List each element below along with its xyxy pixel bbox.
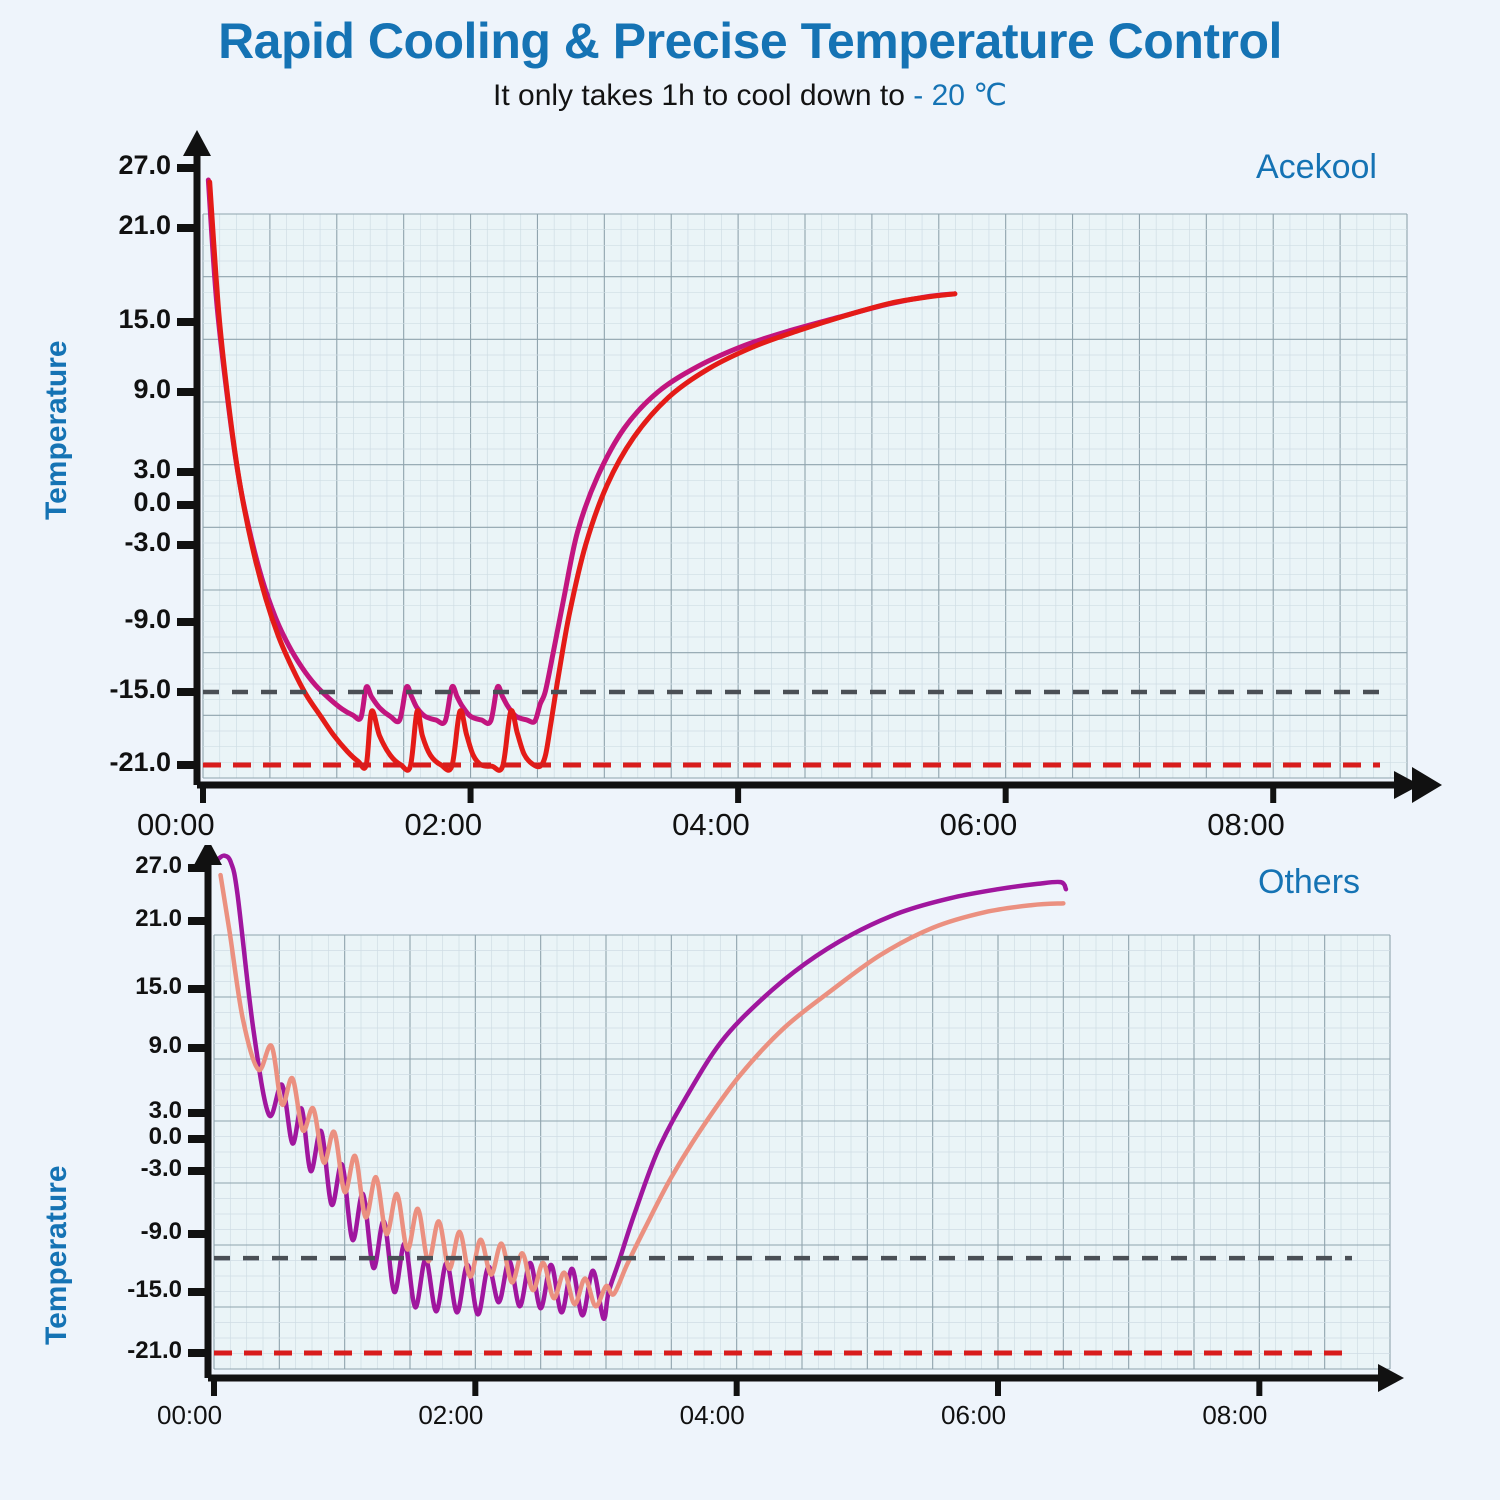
y-axis-arrow-icon: [183, 130, 211, 156]
y-tick-label-8: -15.0: [127, 1276, 182, 1304]
y-tick-label-8: -15.0: [109, 674, 171, 705]
page-header: Rapid Cooling & Precise Temperature Cont…: [0, 0, 1500, 112]
subtitle-prefix: It only takes 1h to cool down to: [493, 79, 913, 112]
y-tick-label-5: 0.0: [133, 487, 171, 518]
x-tick-label-1: 02:00: [418, 1400, 483, 1431]
y-tick-label-3: 9.0: [133, 374, 171, 405]
x-tick-label-3: 06:00: [941, 1400, 1006, 1431]
y-tick-label-6: -3.0: [124, 527, 171, 558]
y-tick-label-0: 27.0: [135, 852, 182, 880]
chart-others-y-axis-title: Temperature: [40, 1165, 74, 1345]
y-tick-label-4: 3.0: [133, 454, 171, 485]
y-tick-label-5: 0.0: [149, 1123, 182, 1151]
chart-acekool-canvas: [0, 130, 1500, 840]
y-axis-arrow-icon: [194, 845, 222, 865]
y-tick-label-7: -9.0: [141, 1218, 182, 1246]
chart-acekool-y-axis-title: Temperature: [40, 340, 74, 520]
y-tick-label-1: 21.0: [135, 905, 182, 933]
x-tick-label-1: 02:00: [405, 807, 483, 843]
x-tick-label-4: 08:00: [1202, 1400, 1267, 1431]
x-tick-label-3: 06:00: [940, 807, 1018, 843]
x-tick-label-2: 04:00: [672, 807, 750, 843]
page-subtitle: It only takes 1h to cool down to - 20 ℃: [0, 69, 1500, 112]
y-tick-label-9: -21.0: [109, 747, 171, 778]
y-tick-label-6: -3.0: [141, 1155, 182, 1183]
y-tick-label-4: 3.0: [149, 1097, 182, 1125]
x-tick-label-2: 04:00: [680, 1400, 745, 1431]
y-tick-label-3: 9.0: [149, 1032, 182, 1060]
x-tick-label-0: 00:00: [137, 807, 215, 843]
chart-others-brand-label: Others: [1258, 863, 1360, 902]
page-title: Rapid Cooling & Precise Temperature Cont…: [0, 0, 1500, 69]
y-tick-label-1: 21.0: [118, 210, 171, 241]
chart-page: Rapid Cooling & Precise Temperature Cont…: [0, 0, 1500, 1500]
chart-acekool-brand-label: Acekool: [1256, 148, 1377, 187]
y-tick-label-2: 15.0: [135, 973, 182, 1001]
chart-acekool: Acekool 27.021.015.09.03.00.0-3.0-9.0-15…: [0, 130, 1500, 840]
y-tick-label-9: -21.0: [127, 1337, 182, 1365]
y-tick-label-0: 27.0: [118, 150, 171, 181]
chart-others-canvas: [0, 845, 1500, 1495]
x-axis-arrow-secondary-icon: [1412, 767, 1442, 803]
x-tick-label-4: 08:00: [1207, 807, 1285, 843]
y-tick-label-2: 15.0: [118, 304, 171, 335]
x-axis-arrow-icon: [1378, 1364, 1404, 1392]
chart-others: Others 27.021.015.09.03.00.0-3.0-9.0-15.…: [0, 845, 1500, 1495]
y-tick-label-7: -9.0: [124, 604, 171, 635]
subtitle-highlight: - 20 ℃: [913, 79, 1007, 112]
x-tick-label-0: 00:00: [157, 1400, 222, 1431]
